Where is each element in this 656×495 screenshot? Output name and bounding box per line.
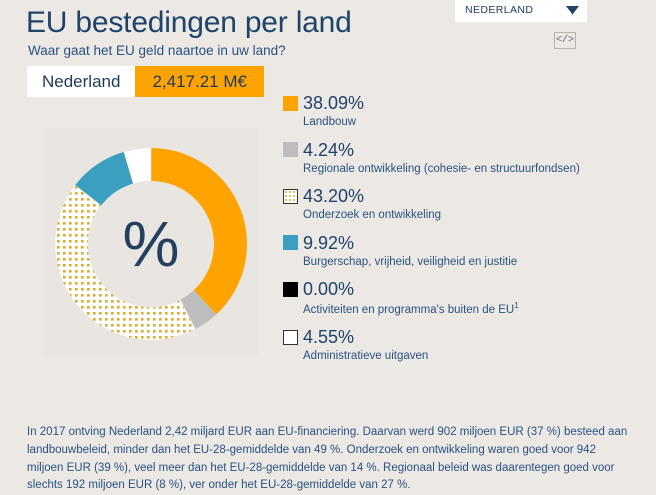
legend-percent: 38.09% [303,94,364,112]
donut-slice[interactable] [151,148,247,314]
legend-label: Onderzoek en ontwikkeling [303,208,633,224]
legend-label: Landbouw [303,115,633,131]
legend-percent: 0.00% [303,280,354,298]
summary-badges: Nederland 2,417.21 M€ [27,66,264,97]
legend-footnote-marker: 1 [514,301,518,310]
legend-swatch [283,142,298,157]
legend-swatch [283,96,298,111]
legend-item[interactable]: 4.55%Administratieve uitgaven [283,328,643,365]
country-dropdown[interactable]: NEDERLAND [455,0,587,22]
legend-head: 4.24% [283,141,643,159]
legend-head: 0.00% [283,280,643,298]
legend-head: 9.92% [283,234,643,252]
legend-label: Regionale ontwikkeling (cohesie- en stru… [303,162,633,178]
legend-item[interactable]: 4.24%Regionale ontwikkeling (cohesie- en… [283,141,643,178]
legend-percent: 9.92% [303,234,354,252]
legend-label: Administratieve uitgaven [303,349,633,365]
legend-item[interactable]: 0.00%Activiteiten en programma's buiten … [283,280,643,318]
donut-slice[interactable] [55,185,195,340]
country-dropdown-value: NEDERLAND [465,0,566,16]
donut-chart[interactable] [50,143,252,345]
footnote-text: In 2017 ontving Nederland 2,42 miljard E… [27,424,631,495]
legend-head: 43.20% [283,187,643,205]
code-embed-button[interactable]: </> [554,32,576,49]
code-icon: </> [556,35,574,46]
country-name-badge: Nederland [27,66,135,97]
legend-item[interactable]: 38.09%Landbouw [283,94,643,131]
total-value-badge: 2,417.21 M€ [135,66,264,97]
legend-swatch [283,189,298,204]
legend-swatch [283,282,298,297]
legend-percent: 43.20% [303,187,364,205]
chevron-down-icon [566,0,579,15]
page-subtitle: Waar gaat het EU geld naartoe in uw land… [28,43,286,58]
legend-swatch [283,235,298,250]
legend-label: Activiteiten en programma's buiten de EU… [303,301,633,318]
page-title: EU bestedingen per land [26,6,352,40]
donut-svg [50,143,252,345]
legend-item[interactable]: 9.92%Burgerschap, vrijheid, veiligheid e… [283,234,643,271]
legend-label: Burgerschap, vrijheid, veiligheid en jus… [303,255,633,271]
legend-head: 38.09% [283,94,643,112]
chart-legend: 38.09%Landbouw4.24%Regionale ontwikkelin… [283,94,643,375]
legend-head: 4.55% [283,328,643,346]
legend-percent: 4.55% [303,328,354,346]
legend-swatch [283,330,298,345]
legend-item[interactable]: 43.20%Onderzoek en ontwikkeling [283,187,643,224]
legend-percent: 4.24% [303,141,354,159]
